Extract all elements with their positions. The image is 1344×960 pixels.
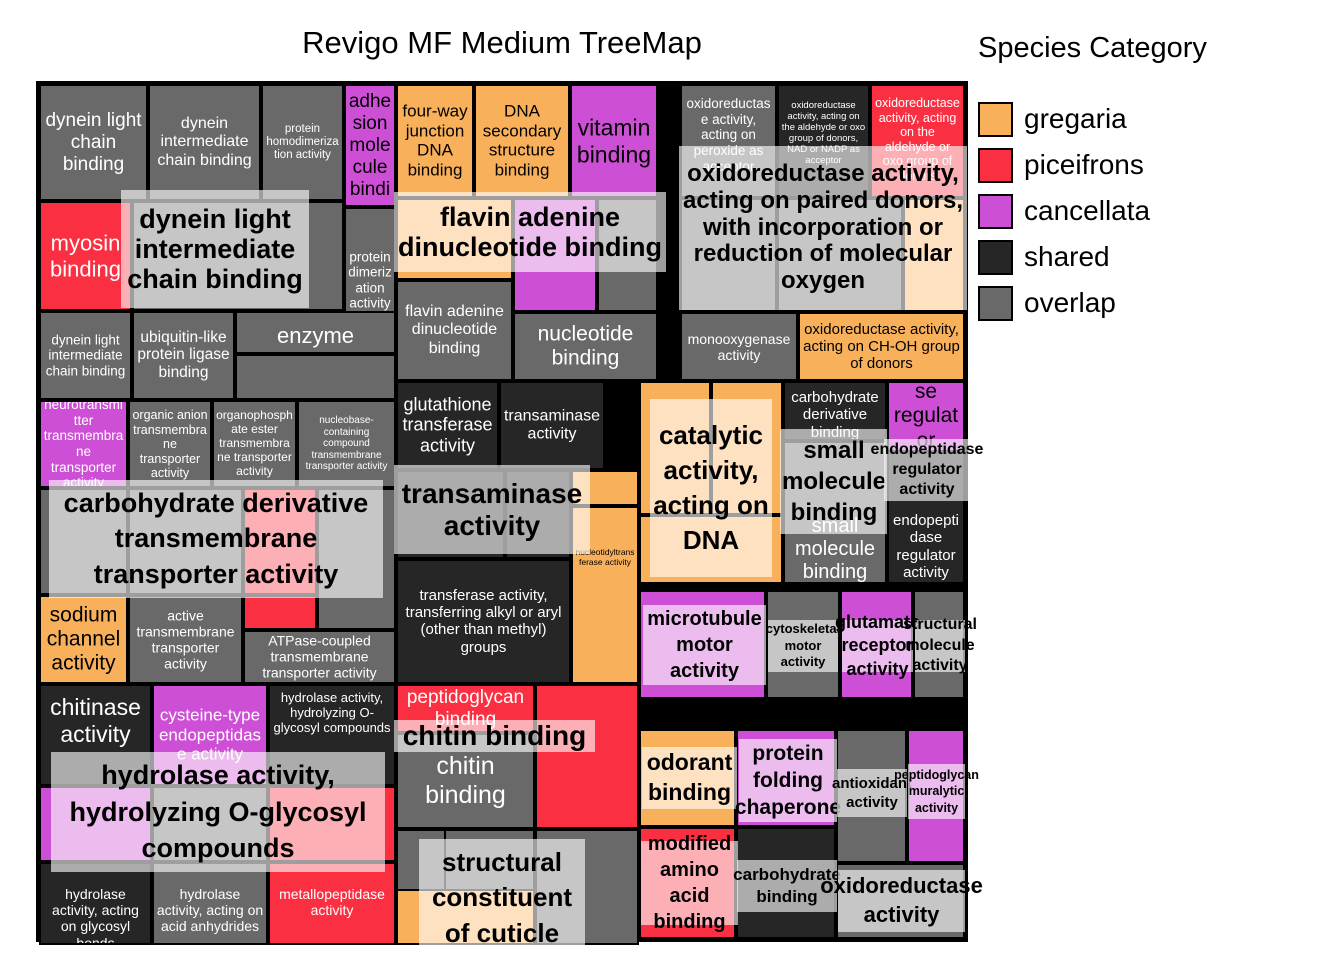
treemap-tile[interactable]: four-way junction DNA binding (396, 84, 474, 198)
treemap-tile[interactable]: ubiquitin-like protein ligase binding (132, 311, 235, 400)
treemap-tile[interactable]: dynein light intermediate chain binding (39, 311, 132, 400)
treemap-tile[interactable] (680, 198, 777, 312)
tile-label: transaminase activity (503, 407, 601, 444)
treemap-tile[interactable] (39, 488, 128, 595)
tile-label: hydrolase activity, acting on acid anhyd… (156, 886, 264, 935)
tile-label: hydrolase activity, acting on glycosyl b… (43, 886, 148, 945)
treemap-tile[interactable] (396, 470, 505, 559)
treemap-tile[interactable]: DNA secondary structure binding (474, 84, 570, 198)
tile-label: metallopeptidase activity (272, 886, 392, 918)
tile-label: nucleobase-containing compound transmemb… (301, 415, 392, 473)
legend-label-piceifrons: piceifrons (1024, 149, 1144, 181)
legend-label-overlap: overlap (1024, 287, 1116, 319)
legend-swatch-cancellata (978, 194, 1013, 229)
legend-item-gregaria[interactable]: gregaria (978, 96, 1150, 142)
treemap-tile[interactable]: oxidoreductase activity, acting on CH-OH… (798, 312, 965, 381)
tile-label: peptidase regulator activity (891, 381, 961, 452)
legend-item-overlap[interactable]: overlap (978, 280, 1150, 326)
treemap-tile[interactable]: peptidoglycan binding (396, 684, 535, 733)
treemap-tile[interactable]: oxidoreductase activity, acting on perox… (680, 84, 777, 198)
treemap-tile[interactable] (639, 381, 711, 515)
tile-label: oxidoreductase activity, acting on perox… (684, 96, 773, 174)
treemap-tile[interactable]: dynein intermediate chain binding (148, 84, 261, 201)
tile-label: protein homodimerization activity (265, 123, 340, 163)
tile-label: DNA secondary structure binding (478, 102, 566, 181)
treemap-tile[interactable]: chitin binding (396, 733, 535, 829)
legend: gregaria piceifrons cancellata shared ov… (978, 96, 1150, 326)
treemap-tile[interactable]: cysteine-type endopeptidase activity (152, 684, 268, 786)
legend-item-shared[interactable]: shared (978, 234, 1150, 280)
treemap-tile[interactable]: nucleobase-containing compound transmemb… (297, 400, 396, 488)
treemap-tile[interactable]: peptidase regulator activity (887, 381, 965, 452)
treemap-tile[interactable]: metallopeptidase activity (268, 862, 396, 945)
treemap-tile[interactable] (913, 590, 965, 699)
treemap-tile[interactable]: enzyme binding (235, 311, 396, 354)
treemap-tile[interactable]: carbohydrate derivative binding (783, 381, 887, 441)
treemap-tile[interactable] (243, 595, 317, 630)
tile-label: active transmembrane transporter activit… (132, 607, 239, 672)
legend-label-gregaria: gregaria (1024, 103, 1127, 135)
treemap-tile[interactable] (840, 590, 913, 699)
legend-swatch-piceifrons (978, 148, 1013, 183)
tile-label: cysteine-type endopeptidase activity (156, 705, 264, 764)
tile-label: nucleotidyltransferase activity (575, 548, 635, 568)
tile-label: oxidoreductase activity, acting on the a… (781, 100, 866, 166)
tile-label: enzyme binding (239, 323, 392, 354)
tile-label: organophosphate ester transmembrane tran… (216, 409, 293, 479)
treemap-tile[interactable] (597, 198, 658, 312)
treemap-tile[interactable]: cell adhesion molecule binding (344, 84, 396, 207)
treemap-tile[interactable]: monooxygenase activity (680, 312, 798, 381)
treemap-tile[interactable] (396, 198, 513, 280)
tile-label: sodium channel activity (43, 603, 124, 676)
treemap-tile[interactable]: transferase activity, transferring alkyl… (396, 559, 571, 684)
treemap-tile[interactable]: chitinase activity (39, 684, 152, 786)
legend-label-shared: shared (1024, 241, 1110, 273)
treemap-tile[interactable]: neurotransmitter transmembrane transport… (39, 400, 128, 488)
treemap-tile[interactable]: organophosphate ester transmembrane tran… (212, 400, 297, 488)
treemap-tile[interactable]: organic anion transmembrane transporter … (128, 400, 212, 488)
treemap-tile[interactable] (243, 488, 317, 595)
treemap-tile[interactable]: hydrolase activity, acting on glycosyl b… (39, 862, 152, 945)
tile-label: monooxygenase activity (684, 330, 794, 362)
tile-label: protein dimerization activity (348, 249, 392, 312)
treemap-tile[interactable]: dynein light chain binding (39, 84, 148, 201)
tile-label: endopeptidase regulator activity (891, 512, 961, 582)
tile-label: ubiquitin-like protein ligase binding (136, 329, 231, 383)
tile-label: hydrolase activity, hydrolyzing O-glycos… (272, 690, 392, 735)
treemap-tile[interactable] (513, 198, 597, 312)
treemap-tile[interactable] (639, 515, 783, 584)
treemap-tile[interactable] (571, 470, 639, 506)
treemap-tile[interactable]: oxidoreductase activity, acting on the a… (777, 84, 870, 198)
tile-label: ATPase-coupled transmembrane transporter… (247, 633, 392, 682)
tile-label: dynein intermediate chain binding (152, 115, 257, 171)
treemap-tile[interactable]: endopeptidase regulator activity (887, 452, 965, 584)
legend-swatch-gregaria (978, 102, 1013, 137)
tile-label: small molecule binding (787, 515, 883, 584)
tile-label: organic anion transmembrane transporter … (132, 408, 208, 481)
treemap-tile[interactable]: sodium channel activity (39, 595, 128, 684)
treemap-tile[interactable]: vitamin binding (570, 84, 658, 198)
treemap-tile[interactable] (39, 786, 152, 862)
treemap-tile[interactable]: active transmembrane transporter activit… (128, 595, 243, 684)
treemap-tile[interactable] (132, 201, 344, 311)
legend-swatch-shared (978, 240, 1013, 275)
page-title: Revigo MF Medium TreeMap (36, 26, 968, 60)
treemap-tile[interactable]: nucleotidyltransferase activity (571, 506, 639, 684)
tile-label: neurotransmitter transmembrane transport… (43, 400, 124, 488)
legend-label-cancellata: cancellata (1024, 195, 1150, 227)
treemap-tile[interactable]: nucleotide binding (513, 312, 658, 381)
treemap-tile[interactable] (268, 786, 396, 862)
treemap-tile[interactable]: flavin adenine dinucleotide binding (396, 280, 513, 381)
tile-label: nucleotide binding (517, 322, 654, 371)
treemap-tile[interactable]: oxidoreductase activity, acting on the a… (870, 84, 965, 198)
treemap-tile[interactable] (535, 829, 639, 945)
legend-item-cancellata[interactable]: cancellata (978, 188, 1150, 234)
legend-swatch-overlap (978, 286, 1013, 321)
tile-label: dynein light chain binding (43, 109, 144, 175)
treemap-tile[interactable]: ATPase-coupled transmembrane transporter… (243, 630, 396, 684)
tile-label: four-way junction DNA binding (400, 102, 470, 181)
tile-label: myosin binding (43, 230, 128, 281)
treemap-tile[interactable] (505, 470, 571, 559)
tile-label: vitamin binding (574, 114, 654, 167)
tile-label: chitin binding (400, 752, 531, 810)
treemap-tile[interactable] (736, 729, 836, 827)
tile-label: peptidoglycan binding (400, 686, 531, 730)
treemap-tile[interactable] (907, 729, 965, 863)
treemap-tile[interactable] (639, 590, 766, 699)
tile-label: oxidoreductase activity, acting on the a… (874, 96, 961, 183)
treemap-tile[interactable]: glutathione transferase activity (396, 381, 499, 470)
treemap-tile[interactable]: hydrolase activity, hydrolyzing O-glycos… (268, 684, 396, 786)
tile-label: dynein light intermediate chain binding (43, 332, 128, 379)
treemap-tile[interactable] (128, 488, 243, 595)
treemap-tile[interactable] (766, 590, 840, 699)
treemap-tile[interactable] (836, 863, 965, 939)
treemap-tile[interactable]: transaminase activity (499, 381, 605, 470)
treemap-tile[interactable] (639, 729, 736, 827)
tile-label: chitinase activity (43, 694, 148, 747)
treemap-tile[interactable]: protein homodimerization activity (261, 84, 344, 201)
treemap-tile[interactable] (736, 827, 836, 939)
treemap-tile[interactable] (903, 198, 965, 312)
tile-label: carbohydrate derivative binding (787, 389, 883, 441)
treemap-tile[interactable] (836, 729, 907, 863)
legend-title: Species Category (978, 32, 1298, 65)
tile-label: glutathione transferase activity (400, 394, 495, 457)
treemap-tile[interactable] (639, 827, 736, 939)
legend-item-piceifrons[interactable]: piceifrons (978, 142, 1150, 188)
treemap-tile[interactable] (535, 684, 639, 829)
treemap-tile[interactable] (396, 889, 535, 945)
tile-label: transferase activity, transferring alkyl… (400, 587, 567, 657)
treemap-tile[interactable]: hydrolase activity, acting on acid anhyd… (152, 862, 268, 945)
treemap-tile[interactable] (777, 198, 903, 312)
treemap-tile[interactable] (711, 381, 783, 515)
treemap-tile[interactable] (152, 786, 268, 862)
tile-label: cell adhesion molecule binding (348, 84, 392, 207)
treemap-chart: dynein light chain binding dynein interm… (36, 81, 968, 942)
treemap-tile[interactable]: myosin binding (39, 201, 132, 311)
tile-label: oxidoreductase activity, acting on CH-OH… (802, 320, 961, 372)
treemap-tile[interactable] (235, 354, 396, 400)
treemap-tile[interactable] (317, 488, 396, 630)
treemap-tile[interactable]: small molecule binding (783, 441, 887, 584)
tile-label: flavin adenine dinucleotide binding (400, 303, 509, 359)
